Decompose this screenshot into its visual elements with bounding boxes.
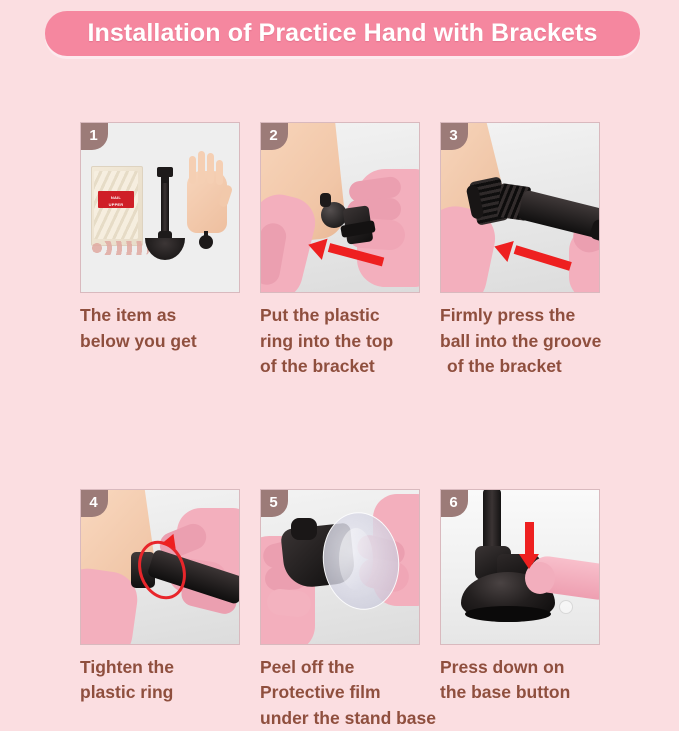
air-bubble — [559, 600, 573, 614]
nail-discs — [89, 241, 149, 255]
caption-line: plastic ring — [80, 680, 252, 706]
step-photo-2: 2 — [260, 122, 420, 293]
scene-items-overview: NAILUPPER — [81, 123, 239, 292]
caption-line: Tighten the — [80, 655, 252, 681]
bracket-arm — [517, 189, 600, 240]
step-card-2: 2 — [260, 122, 420, 380]
practice-hand-finger-1 — [189, 156, 196, 184]
ball-joint-stem — [204, 231, 208, 237]
caption-line: of the bracket — [440, 354, 612, 380]
step-photo-3: 3 — [440, 122, 600, 293]
suction-base-rim — [465, 606, 551, 622]
practice-hand-finger-2 — [198, 151, 205, 184]
base-lever — [291, 518, 317, 540]
header-banner: Installation of Practice Hand with Brack… — [45, 11, 640, 56]
scene-press-base — [441, 490, 599, 644]
step-photo-5: 5 — [260, 489, 420, 645]
step-caption-4: Tighten the plastic ring — [80, 655, 252, 706]
caption-line: ring into the top — [260, 329, 432, 355]
scene-peel-film — [261, 490, 419, 644]
step-card-5: 5 Peel off the Protective fil — [260, 489, 420, 731]
step-caption-1: The item as below you get — [80, 303, 252, 354]
stand-pole — [483, 489, 501, 554]
page-title: Installation of Practice Hand with Brack… — [88, 19, 598, 48]
caption-line: the base button — [440, 680, 612, 706]
step-caption-3: Firmly press the ball into the groove of… — [440, 303, 612, 380]
scene-tighten-ring — [81, 490, 239, 644]
step-photo-6: 6 — [440, 489, 600, 645]
caption-line: below you get — [80, 329, 252, 355]
scene-press-ball — [441, 123, 599, 292]
caption-line: The item as — [80, 303, 252, 329]
step-card-4: 4 Ti — [80, 489, 240, 731]
step-caption-6: Press down on the base button — [440, 655, 612, 706]
row-spacer — [260, 380, 420, 489]
caption-line: Protective film — [260, 680, 432, 706]
step-caption-5: Peel off the Protective film under the s… — [260, 655, 432, 731]
caption-line: Press down on — [440, 655, 612, 681]
ball-joint-stem — [320, 193, 331, 207]
row-spacer — [80, 380, 240, 489]
caption-line: under the stand base — [260, 706, 432, 731]
step-photo-4: 4 — [80, 489, 240, 645]
caption-line: Put the plastic — [260, 303, 432, 329]
steps-grid: 1 NAILUPPER — [80, 122, 600, 731]
protective-film-highlight — [339, 528, 373, 590]
caption-line: ball into the groove — [440, 329, 612, 355]
practice-hand-finger-4 — [216, 160, 223, 185]
step-caption-2: Put the plastic ring into the top of the… — [260, 303, 432, 380]
row-spacer — [440, 380, 600, 489]
caption-line: Peel off the — [260, 655, 432, 681]
nail-tips-bag-label-text: NAILUPPER — [98, 192, 134, 208]
step-card-1: 1 NAILUPPER — [80, 122, 240, 380]
practice-hand-finger-3 — [207, 153, 214, 184]
step-card-3: 3 — [440, 122, 600, 380]
ball-joint — [199, 235, 213, 249]
scene-place-ring — [261, 123, 419, 292]
step-card-6: 6 — [440, 489, 600, 731]
step-photo-1: 1 NAILUPPER — [80, 122, 240, 293]
caption-line: of the bracket — [260, 354, 432, 380]
caption-line: Firmly press the — [440, 303, 612, 329]
